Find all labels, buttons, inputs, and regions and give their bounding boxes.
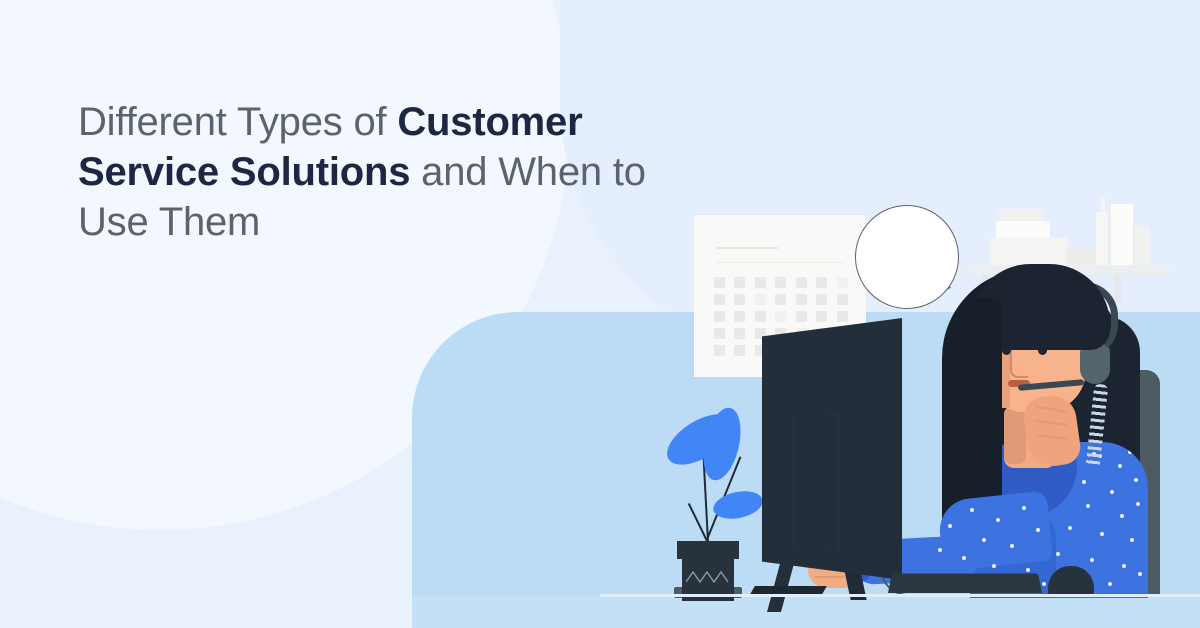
calendar-day-cell bbox=[714, 328, 725, 339]
shirt-dot bbox=[1068, 526, 1072, 530]
calendar-day-cell bbox=[734, 328, 745, 339]
calendar-day-cell bbox=[775, 277, 786, 288]
shirt-dot bbox=[992, 564, 996, 568]
keyboard bbox=[888, 574, 1042, 593]
calendar-day-cell bbox=[714, 345, 725, 356]
calendar-day-cell bbox=[796, 277, 807, 288]
calendar-day-cell bbox=[816, 311, 827, 322]
shirt-dot bbox=[1100, 532, 1104, 536]
calendar-day-cell bbox=[714, 294, 725, 305]
shirt-dot bbox=[970, 508, 974, 512]
calendar-header-line-1 bbox=[716, 247, 778, 249]
agent-knuckle-line-3 bbox=[814, 576, 844, 578]
shirt-dot bbox=[1026, 568, 1030, 572]
shirt-dot bbox=[1138, 572, 1142, 576]
agent-neck-shadow bbox=[1004, 406, 1026, 464]
shirt-dot bbox=[1110, 490, 1114, 494]
shirt-dot bbox=[938, 548, 942, 552]
calendar-day-cell bbox=[734, 294, 745, 305]
plant-pot-rim bbox=[677, 541, 739, 559]
calendar-header-line-2 bbox=[716, 262, 844, 263]
plant-leaf-3 bbox=[711, 487, 765, 523]
shirt-dot bbox=[1010, 544, 1014, 548]
calendar-day-cell bbox=[837, 311, 848, 322]
shirt-dot bbox=[1134, 478, 1138, 482]
calendar-day-cell bbox=[837, 277, 848, 288]
shirt-dot bbox=[1136, 502, 1140, 506]
calendar-day-cell bbox=[796, 311, 807, 322]
shelf-book-stack-2 bbox=[996, 221, 1050, 239]
calendar-day-cell bbox=[816, 277, 827, 288]
shirt-dot bbox=[996, 518, 1000, 522]
shirt-dot bbox=[1128, 450, 1132, 454]
shirt-dot bbox=[1118, 464, 1122, 468]
calendar-day-cell bbox=[755, 294, 766, 305]
calendar-day-cell bbox=[714, 311, 725, 322]
page-title: Different Types of Customer Service Solu… bbox=[78, 97, 698, 247]
calendar-day-cell bbox=[775, 311, 786, 322]
shirt-dot bbox=[1120, 514, 1124, 518]
support-agent bbox=[930, 246, 1190, 596]
banner-canvas: Different Types of Customer Service Solu… bbox=[0, 0, 1200, 628]
calendar-day-cell bbox=[714, 277, 725, 288]
shirt-dot bbox=[1130, 538, 1134, 542]
calendar-day-cell bbox=[816, 294, 827, 305]
calendar-day-cell bbox=[796, 294, 807, 305]
shirt-dot bbox=[1090, 558, 1094, 562]
shirt-dot bbox=[1082, 480, 1086, 484]
shirt-dot bbox=[1122, 564, 1126, 568]
calendar-day-cell bbox=[755, 311, 766, 322]
shirt-dot bbox=[962, 556, 966, 560]
shirt-dot bbox=[1022, 506, 1026, 510]
headline-lead: Different Types of bbox=[78, 100, 397, 144]
monitor-rear-panel-outline bbox=[793, 413, 839, 549]
shirt-dot bbox=[1086, 504, 1090, 508]
shirt-dot bbox=[1108, 582, 1112, 586]
calendar-day-cell bbox=[734, 345, 745, 356]
plant-pot-zigzag-icon bbox=[686, 571, 730, 583]
shirt-dot bbox=[982, 538, 986, 542]
calendar-day-cell bbox=[775, 294, 786, 305]
agent-nose bbox=[1010, 350, 1028, 378]
desk-edge bbox=[600, 594, 1200, 597]
desk-front-panel bbox=[412, 596, 1200, 628]
calendar-day-cell bbox=[734, 311, 745, 322]
calendar-day-cell bbox=[755, 277, 766, 288]
shirt-dot bbox=[948, 524, 952, 528]
calendar-day-cell bbox=[734, 277, 745, 288]
shirt-dot bbox=[1036, 528, 1040, 532]
potted-plant bbox=[655, 395, 765, 600]
calendar-day-cell bbox=[837, 294, 848, 305]
